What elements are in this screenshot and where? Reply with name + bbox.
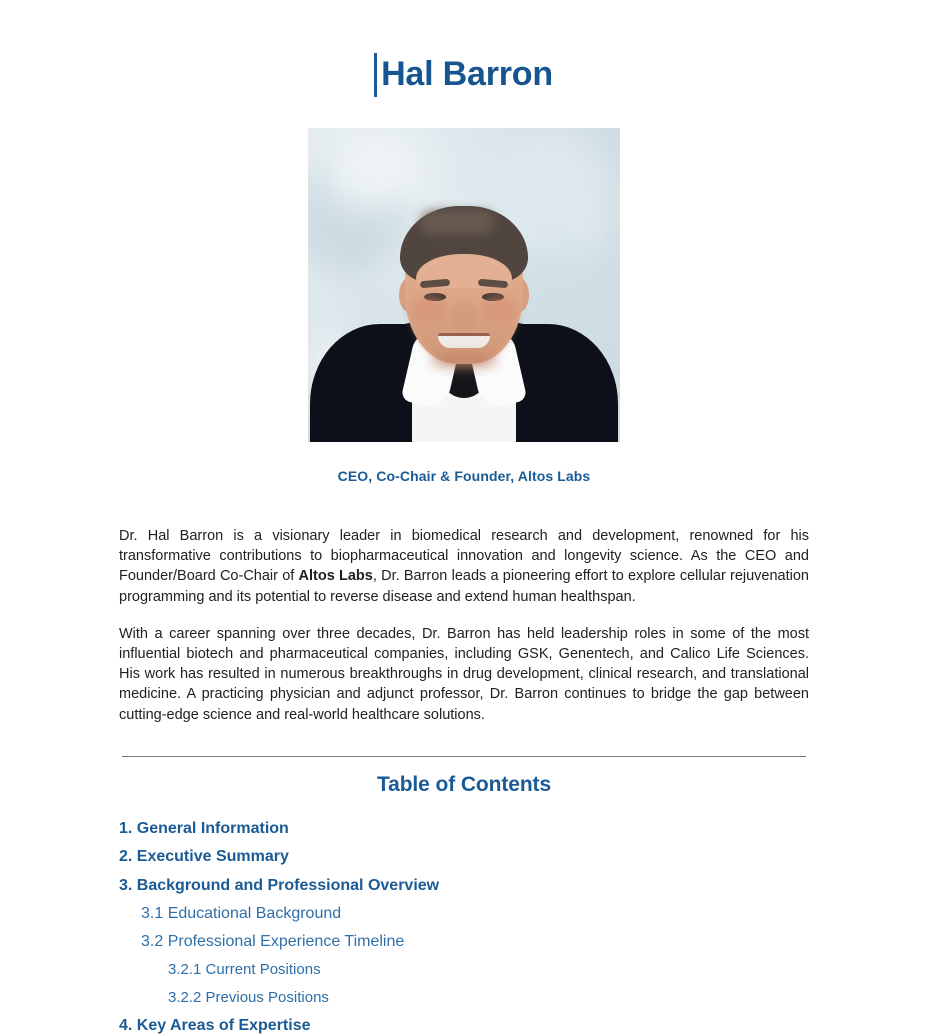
cheek-left <box>412 296 446 322</box>
portrait-photo <box>308 128 620 442</box>
section-divider <box>122 756 806 757</box>
page-title-text: Hal Barron <box>381 55 553 93</box>
toc-item-level-1[interactable]: 2. Executive Summary <box>119 847 809 866</box>
document-page: Hal Barron <box>0 0 928 1035</box>
toc-item-level-2[interactable]: 3.1 Educational Background <box>119 904 809 923</box>
toc-item-level-1[interactable]: 3. Background and Professional Overview <box>119 876 809 895</box>
toc-item-level-3[interactable]: 3.2.2 Previous Positions <box>119 988 809 1007</box>
toc-heading: Table of Contents <box>0 773 928 797</box>
biography-paragraph: With a career spanning over three decade… <box>119 624 809 725</box>
biography-paragraph: Dr. Hal Barron is a visionary leader in … <box>119 526 809 607</box>
text-cursor-caret <box>374 53 377 97</box>
smile-mouth <box>438 333 490 348</box>
emphasized-text: Altos Labs <box>299 568 373 584</box>
toc-item-level-1[interactable]: 1. General Information <box>119 819 809 838</box>
biography-section: Dr. Hal Barron is a visionary leader in … <box>119 484 809 725</box>
title-block: Hal Barron <box>0 0 928 116</box>
background-blur-shape <box>324 134 420 208</box>
role-subtitle: CEO, Co-Chair & Founder, Altos Labs <box>0 468 928 484</box>
hair-highlight <box>420 210 494 234</box>
portrait-container <box>0 128 928 442</box>
page-title: Hal Barron <box>375 56 553 93</box>
table-of-contents: 1. General Information2. Executive Summa… <box>119 819 809 1035</box>
toc-item-level-2[interactable]: 3.2 Professional Experience Timeline <box>119 932 809 951</box>
toc-item-level-1[interactable]: 4. Key Areas of Expertise <box>119 1016 809 1035</box>
body-text: With a career spanning over three decade… <box>119 626 809 723</box>
cheek-right <box>482 296 516 322</box>
chin-shadow <box>430 352 498 370</box>
toc-item-level-3[interactable]: 3.2.1 Current Positions <box>119 960 809 979</box>
nose <box>453 303 475 333</box>
